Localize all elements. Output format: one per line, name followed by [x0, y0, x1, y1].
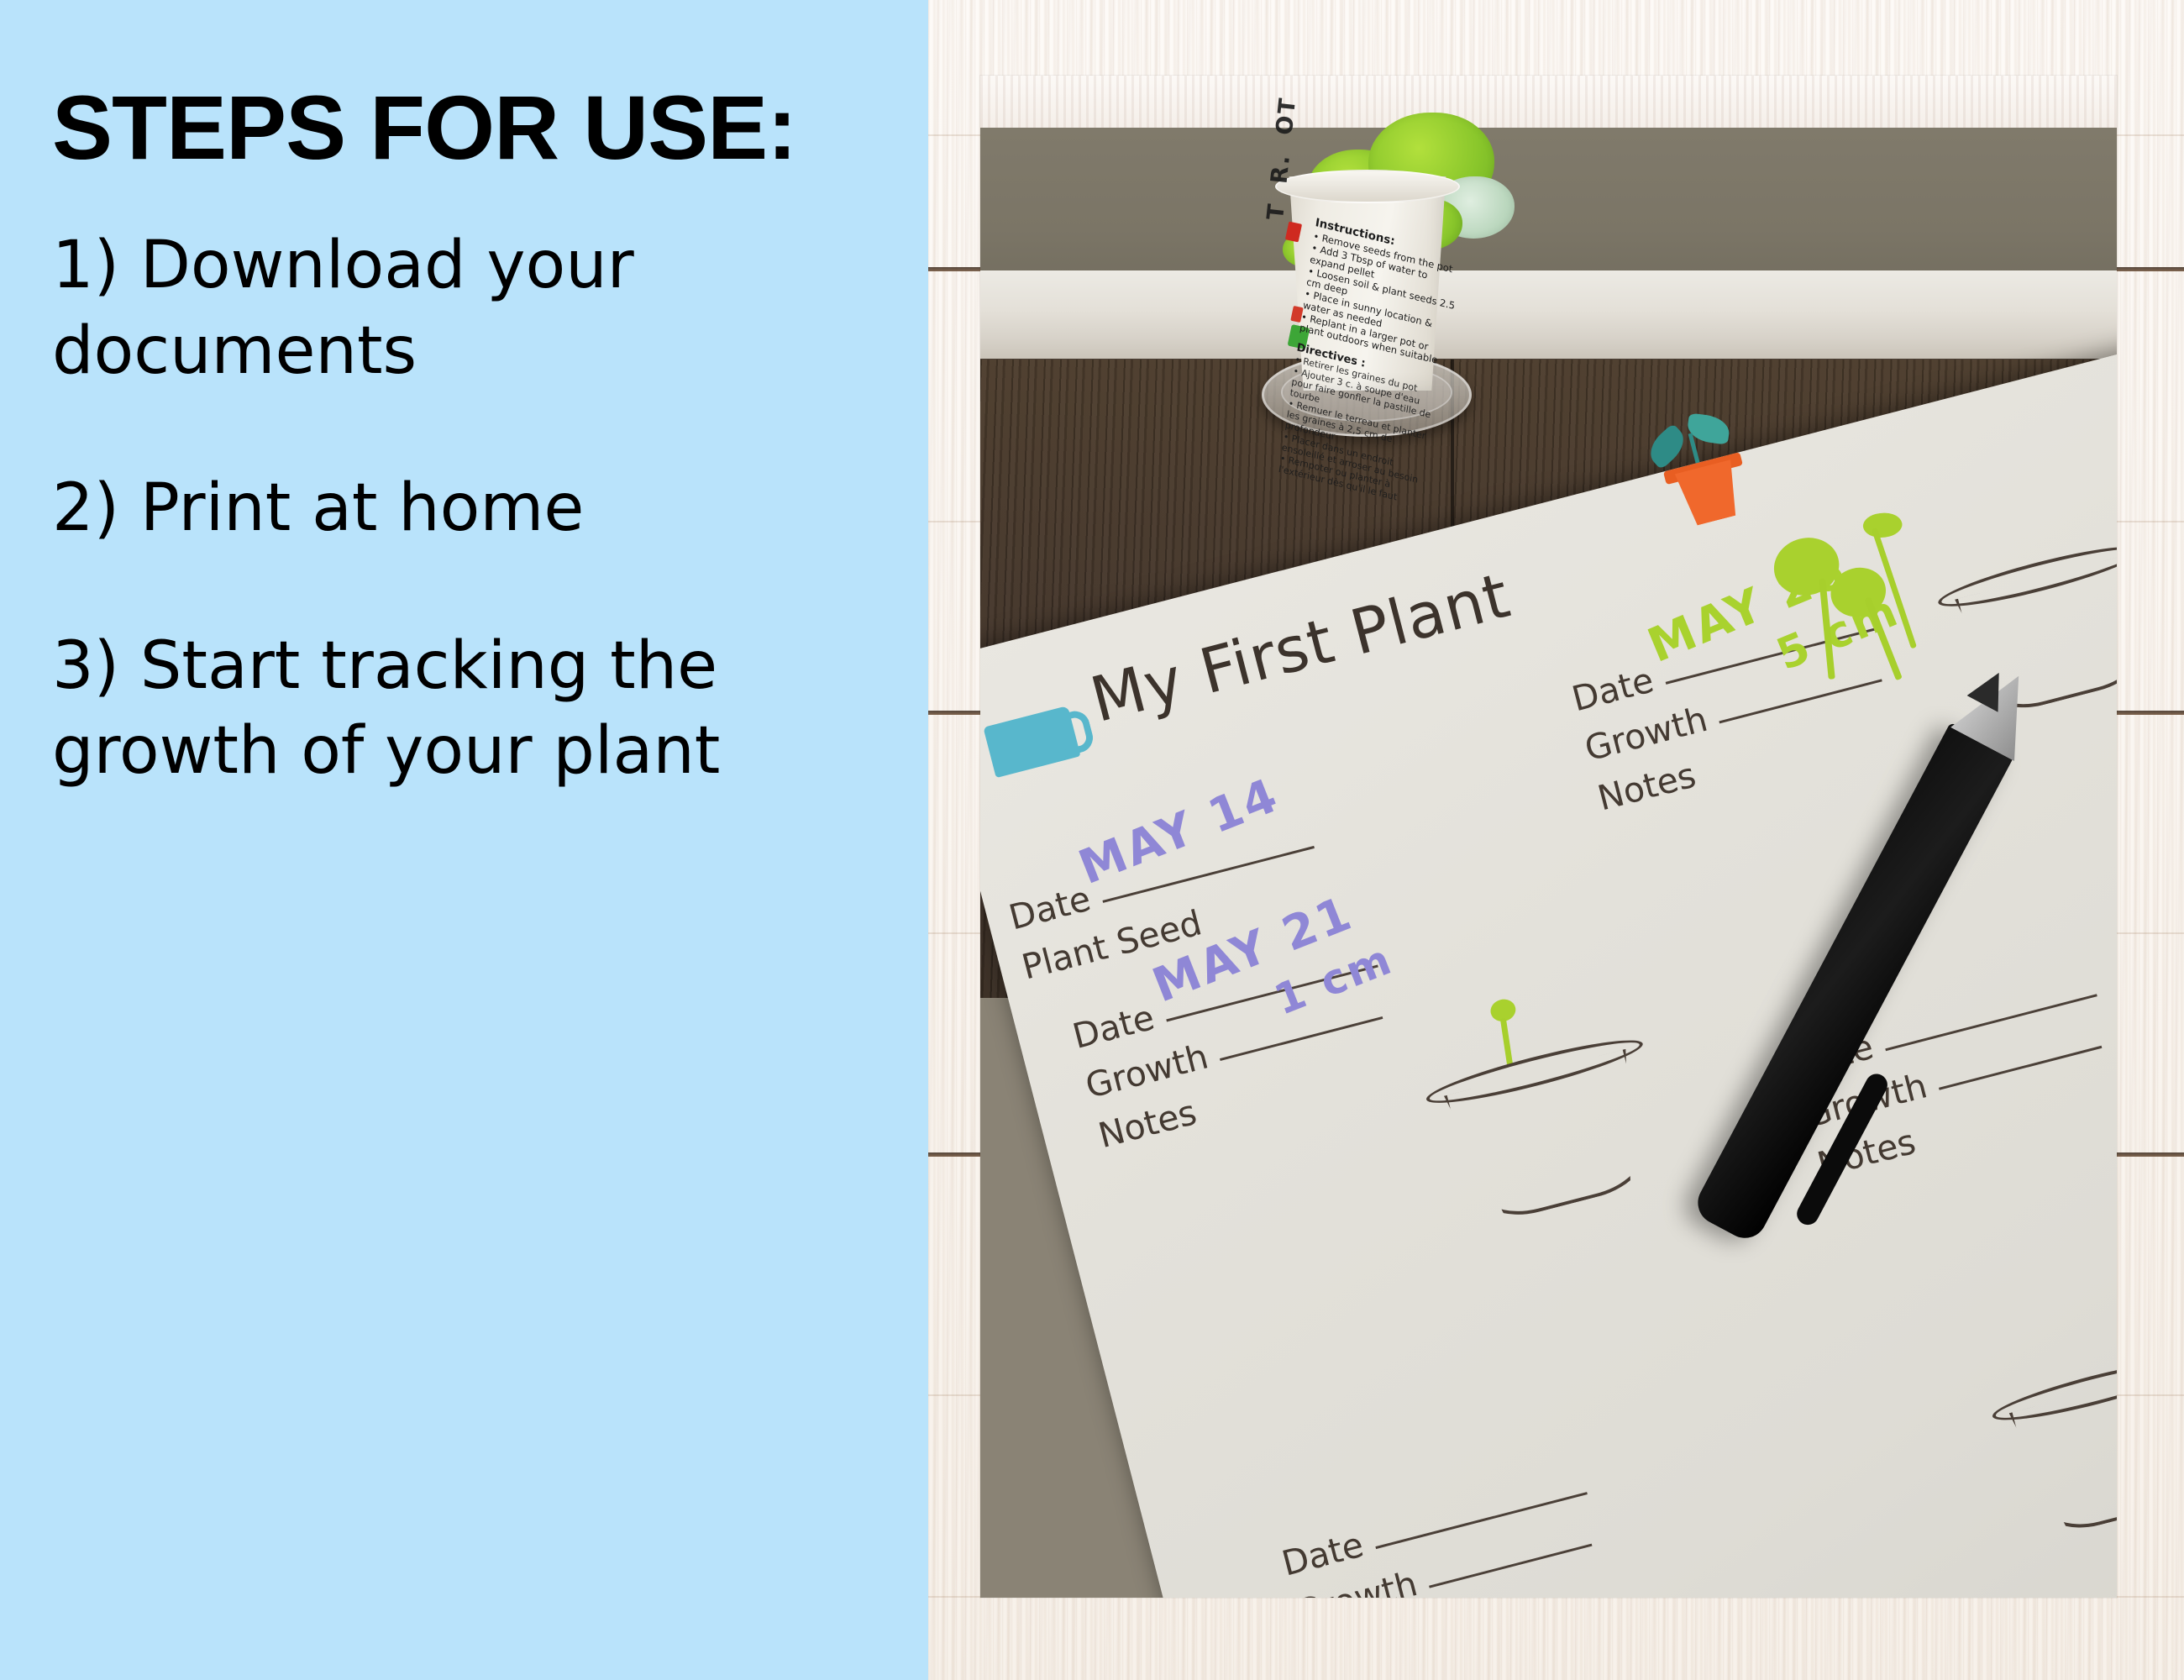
- watering-can-icon: [983, 706, 1080, 778]
- step-item-1: 1) Download your documents: [52, 223, 829, 394]
- pot-outline-drawing-1: [1935, 537, 2117, 744]
- worksheet-entry-5: Date Growth: [1278, 1467, 1606, 1598]
- step-item-2: 2) Print at home: [52, 466, 829, 551]
- steps-content: STEPS FOR USE: 1) Download your document…: [52, 80, 900, 794]
- entry-2-notes-label: Notes: [1095, 1092, 1201, 1156]
- entry-3-notes-label: Notes: [1593, 754, 1700, 818]
- steps-list: 1) Download your documents 2) Print at h…: [52, 223, 900, 794]
- steps-panel: STEPS FOR USE: 1) Download your document…: [0, 0, 928, 1680]
- doodle-sprout-stem: [1500, 1018, 1513, 1067]
- photo-panel: T R. OT Instructions: Remove seeds from …: [928, 0, 2184, 1680]
- entry-5-growth-rule[interactable]: [1429, 1544, 1592, 1588]
- entry-2-date-label: Date: [1068, 997, 1158, 1057]
- page-root: STEPS FOR USE: 1) Download your document…: [0, 0, 2184, 1680]
- worksheet-entry-3: Date Growth Notes MAY 26 5 cm: [1568, 602, 1909, 829]
- wall-top-plank: [980, 76, 2117, 133]
- pot-outline-drawing-4: [1989, 1350, 2117, 1565]
- page-title: STEPS FOR USE:: [52, 80, 900, 175]
- pot-rim: [1275, 170, 1460, 203]
- plant-tracker-photo: T R. OT Instructions: Remove seeds from …: [980, 76, 2117, 1598]
- step-item-3: 3) Start tracking the growth of your pla…: [52, 624, 829, 795]
- baseboard: [980, 270, 2117, 361]
- doodle-leaf-3: [1861, 508, 1904, 543]
- entry-3-date-label: Date: [1568, 659, 1658, 719]
- entry-1-date-label: Date: [1005, 879, 1095, 938]
- entry-5-date-label: Date: [1278, 1525, 1368, 1584]
- pot-outline-drawing-2: [1423, 1030, 1683, 1255]
